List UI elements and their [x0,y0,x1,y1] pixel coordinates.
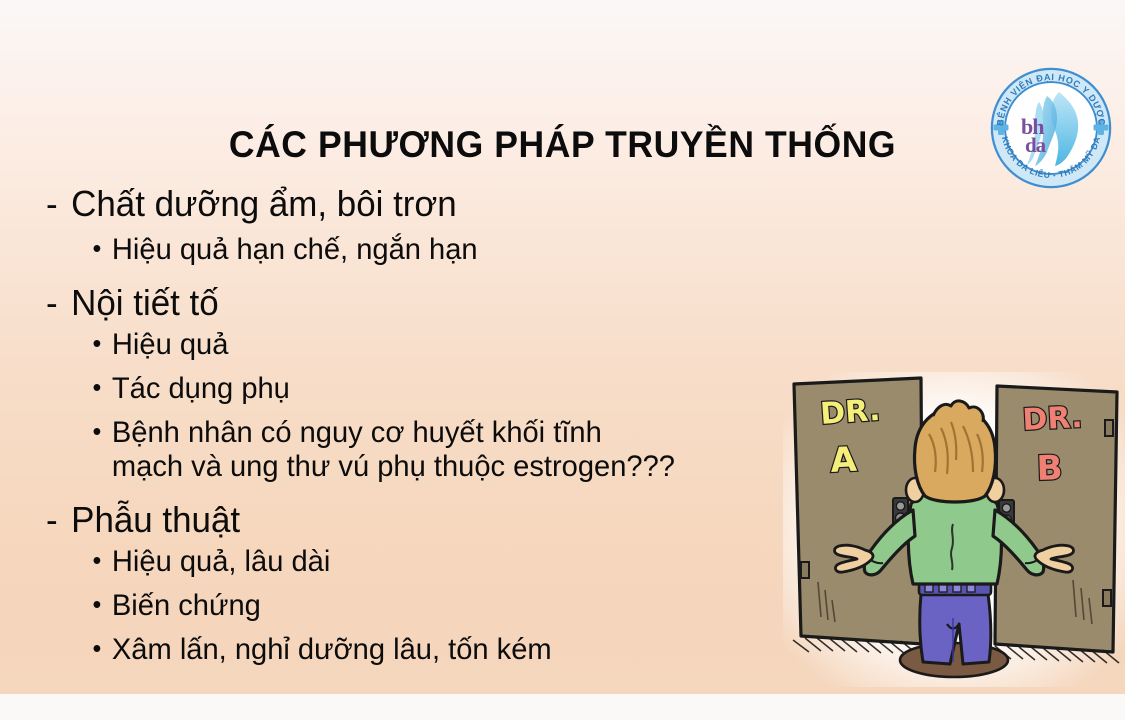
outline-bullet-text: Xâm lấn, nghỉ dưỡng lâu, tốn kém [112,633,552,666]
cartoon-illustration: DR. A [783,372,1125,687]
bullet-marker: • [93,415,102,448]
bullet-marker: • [93,544,102,577]
bullet-marker: • [93,232,102,265]
bullet-marker: • [93,588,102,621]
bullet-marker: • [93,327,102,360]
outline-bullet: •Hiệu quả, lâu dài [44,545,752,579]
svg-text:da: da [1025,133,1047,157]
outline-heading-text: Nội tiết tố [71,282,219,323]
cartoon-svg: DR. A [783,372,1125,687]
hospital-logo-svg: BỆNH VIỆN ĐẠI HỌC Y DƯỢC KHOA DA LIỄU - … [985,62,1117,194]
svg-text:DR.: DR. [1022,400,1084,438]
svg-text:A: A [829,440,858,481]
slide-title: CÁC PHƯƠNG PHÁP TRUYỀN THỐNG [23,124,1103,166]
outline-bullet-text: Hiệu quả, lâu dài [112,545,330,578]
outline-bullet: •Bệnh nhân có nguy cơ huyết khối tĩnhmạc… [44,416,752,484]
outline-bullet: •Biến chứng [44,589,752,623]
logo-monogram: bh da [1021,114,1047,157]
outline-group: -Chất dưỡng ẩm, bôi trơn •Hiệu quả hạn c… [44,186,774,267]
hospital-logo: BỆNH VIỆN ĐẠI HỌC Y DƯỢC KHOA DA LIỄU - … [985,62,1117,194]
outline-bullet-text: Bệnh nhân có nguy cơ huyết khối tĩnh [112,416,602,449]
bullet-marker: • [93,632,102,665]
outline-bullet-text: Hiệu quả hạn chế, ngắn hạn [112,233,478,266]
outline-heading: -Phẫu thuật [44,502,752,539]
bullet-marker: • [93,371,102,404]
dash-marker: - [46,285,58,322]
outline-bullet: •Hiệu quả hạn chế, ngắn hạn [44,233,752,267]
outline-heading-text: Chất dưỡng ẩm, bôi trơn [71,183,457,224]
outline-bullet-text: Biến chứng [112,589,261,622]
outline-heading-text: Phẫu thuật [71,499,240,540]
dash-marker: - [46,502,58,539]
svg-text:B: B [1036,448,1063,489]
dash-marker: - [46,186,58,223]
outline-heading: -Chất dưỡng ẩm, bôi trơn [44,186,752,223]
slide-canvas: CÁC PHƯƠNG PHÁP TRUYỀN THỐNG -Chất dưỡng… [0,0,1125,720]
outline-bullet-text: Hiệu quả [112,328,228,361]
outline-bullet-text: Tác dụng phụ [112,372,290,405]
outline-content: -Chất dưỡng ẩm, bôi trơn •Hiệu quả hạn c… [44,186,774,670]
slide-background-footer-strip [0,694,1125,720]
outline-group: -Nội tiết tố •Hiệu quả •Tác dụng phụ •Bệ… [44,285,774,484]
outline-bullet: •Hiệu quả [44,328,752,362]
outline-group: -Phẫu thuật •Hiệu quả, lâu dài •Biến chứ… [44,502,774,667]
outline-bullet-text-continued: mạch và ung thư vú phụ thuộc estrogen??? [112,450,752,484]
svg-text:DR.: DR. [819,393,881,432]
outline-bullet: •Xâm lấn, nghỉ dưỡng lâu, tốn kém [44,633,752,667]
outline-heading: -Nội tiết tố [44,285,752,322]
outline-bullet: •Tác dụng phụ [44,372,752,406]
